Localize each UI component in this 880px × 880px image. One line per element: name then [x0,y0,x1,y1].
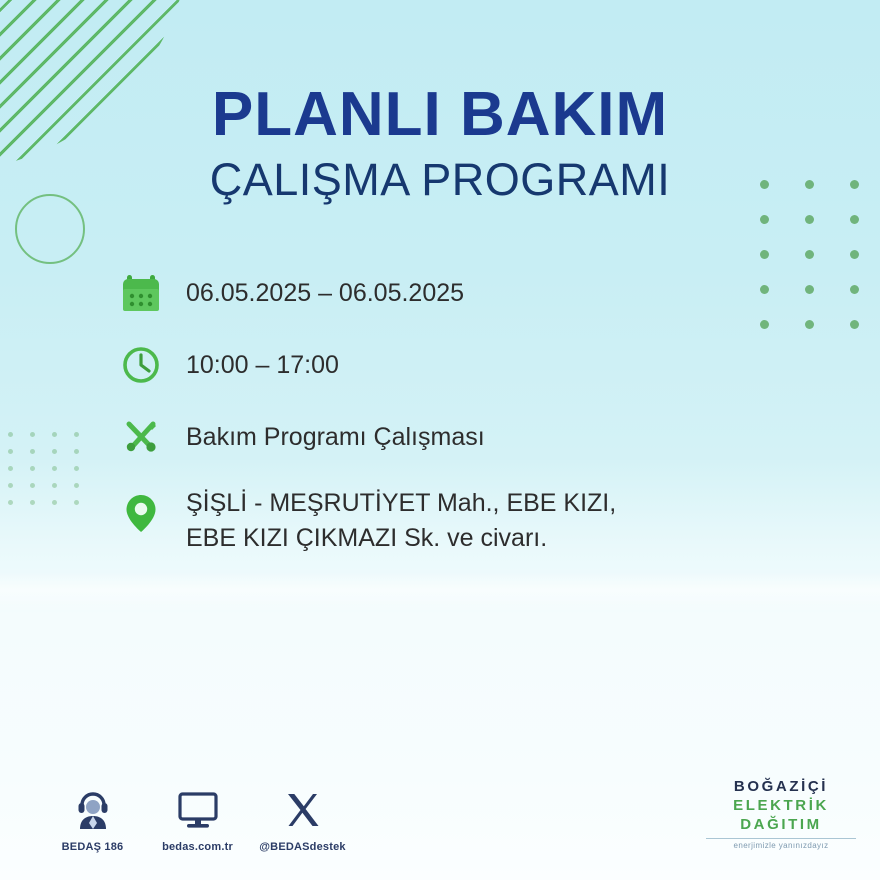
dot [850,285,859,294]
dot [805,215,814,224]
detail-location-line-1: ŞİŞLİ - MEŞRUTİYET Mah., EBE KIZI, [186,486,616,521]
brand-logo: BOĞAZİÇİ ELEKTRİK DAĞITIM enerjimizle ya… [706,778,856,850]
detail-time-text: 10:00 – 17:00 [166,340,339,383]
brand-line-dagitim: DAĞITIM [706,816,856,835]
dot [850,320,859,329]
page-subtitle: ÇALIŞMA PROGRAMI [0,156,880,203]
dot [760,250,769,259]
detail-location-text: ŞİŞLİ - MEŞRUTİYET Mah., EBE KIZI, EBE K… [166,484,616,555]
footer-contacts: BEDAŞ 186 bedas.com.tr @BEDASdestek [40,786,355,853]
detail-row-location: ŞİŞLİ - MEŞRUTİYET Mah., EBE KIZI, EBE K… [116,484,816,555]
detail-date-text: 06.05.2025 – 06.05.2025 [166,268,464,311]
dot [30,500,35,505]
dot [52,483,57,488]
planned-maintenance-poster: PLANLI BAKIM ÇALIŞMA PROGRAMI 06.05.2025… [0,0,880,880]
contact-call-center[interactable]: BEDAŞ 186 [40,786,145,853]
contact-website[interactable]: bedas.com.tr [145,786,250,853]
dot [30,466,35,471]
dot [52,449,57,454]
dot [30,449,35,454]
dot [74,432,79,437]
dot [8,466,13,471]
dot-grid-decoration-left [8,432,96,517]
page-title: PLANLI BAKIM [0,84,880,146]
brand-line-bogazici: BOĞAZİÇİ [706,778,856,797]
dot [850,215,859,224]
contact-website-label: bedas.com.tr [145,841,250,853]
brand-line-elektrik: ELEKTRİK [706,797,856,816]
contact-x-handle-label: @BEDASdestek [250,841,355,853]
monitor-icon [145,786,250,834]
circle-ring-decoration [15,194,85,264]
dot [52,500,57,505]
call-center-agent-icon [40,786,145,834]
poster-header: PLANLI BAKIM ÇALIŞMA PROGRAMI [0,84,880,203]
location-pin-icon [116,484,166,538]
dot [8,500,13,505]
x-twitter-icon [250,786,355,834]
dot [8,449,13,454]
dot [8,432,13,437]
dot [805,250,814,259]
detail-row-time: 10:00 – 17:00 [116,340,816,390]
maintenance-details-list: 06.05.2025 – 06.05.2025 10:00 – 17:00 [116,268,816,577]
detail-location-line-2: EBE KIZI ÇIKMAZI Sk. ve civarı. [186,521,616,556]
dot [760,215,769,224]
dot [52,466,57,471]
dot [74,500,79,505]
detail-row-date: 06.05.2025 – 06.05.2025 [116,268,816,318]
dot [52,432,57,437]
background-band-divider [0,572,880,612]
detail-row-work-type: Bakım Programı Çalışması [116,412,816,462]
dot [8,483,13,488]
brand-tagline: enerjimizle yanınızdayız [706,838,856,850]
dot [74,466,79,471]
dot [850,250,859,259]
calendar-icon [116,268,166,318]
tools-icon [116,412,166,462]
contact-x-handle[interactable]: @BEDASdestek [250,786,355,853]
dot [30,432,35,437]
dot [74,449,79,454]
contact-call-center-label: BEDAŞ 186 [40,841,145,853]
dot [30,483,35,488]
detail-work-type-text: Bakım Programı Çalışması [166,412,485,455]
dot [74,483,79,488]
clock-icon [116,340,166,390]
